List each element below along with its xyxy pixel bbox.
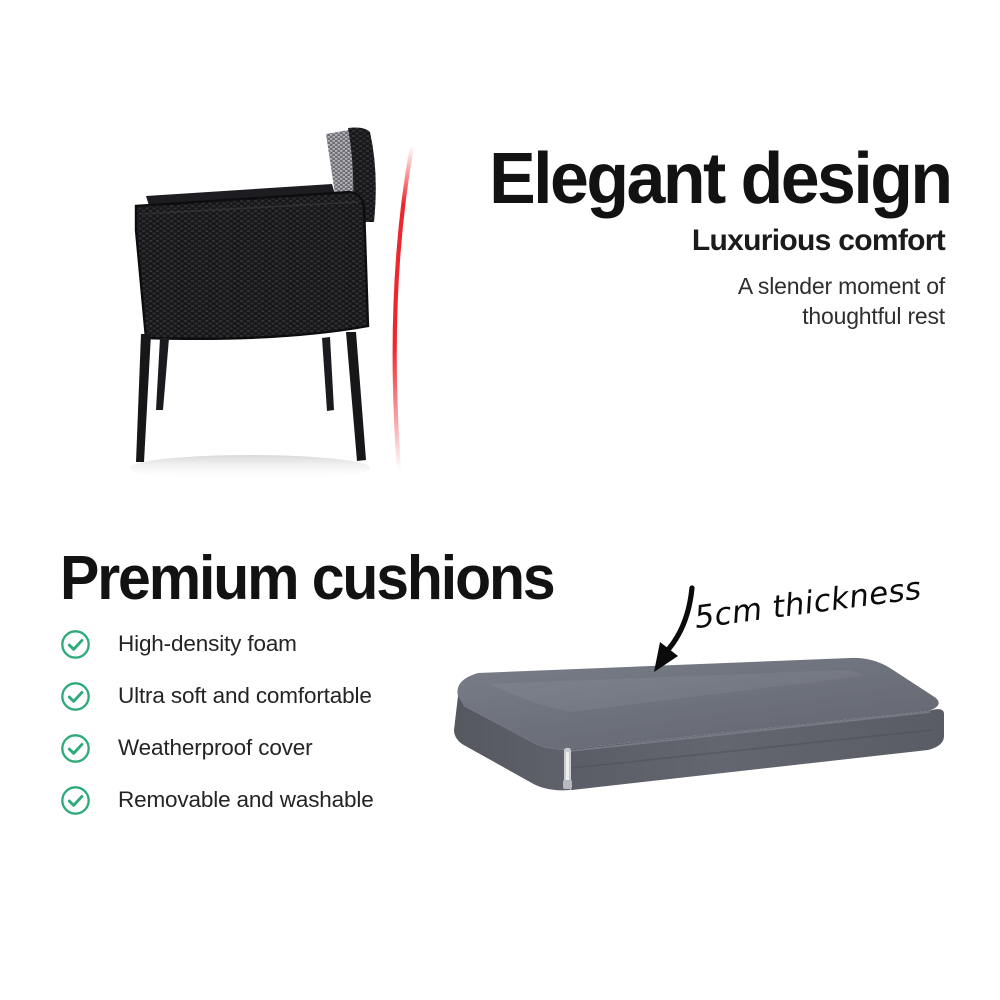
body-copy: A slender moment of thoughtful rest [475, 272, 945, 332]
list-item: High-density foam [60, 618, 480, 670]
chair-leg-front-left [136, 334, 151, 462]
body-copy-line-2: thoughtful rest [802, 303, 945, 329]
elegant-design-text-block: Elegant design Luxurious comfort A slend… [475, 146, 945, 332]
chair-leg-front-right [346, 332, 366, 461]
red-accent-curve [395, 146, 412, 470]
check-circle-icon [60, 785, 91, 816]
page-subtitle: Luxurious comfort [475, 224, 945, 258]
check-circle-icon [60, 681, 91, 712]
body-copy-line-1: A slender moment of [738, 273, 945, 299]
feature-list: High-density foam Ultra soft and comfort… [60, 618, 480, 826]
cushion-zipper [563, 748, 572, 789]
list-item: Ultra soft and comfortable [60, 670, 480, 722]
page-title: Elegant design [489, 146, 945, 212]
chair-body-panel [136, 192, 368, 339]
list-item-label: Ultra soft and comfortable [118, 683, 372, 709]
annotation-arrow-icon [654, 588, 692, 672]
product-feature-panel: Elegant design Luxurious comfort A slend… [0, 0, 1000, 1000]
chair-leg-back-left [156, 338, 169, 410]
list-item: Removable and washable [60, 774, 480, 826]
check-circle-icon [60, 733, 91, 764]
list-item: Weatherproof cover [60, 722, 480, 774]
check-circle-icon [60, 629, 91, 660]
armchair-product-image [100, 110, 460, 500]
chair-leg-back-right [322, 337, 334, 411]
list-item-label: Removable and washable [118, 787, 374, 813]
list-item-label: Weatherproof cover [118, 735, 312, 761]
list-item-label: High-density foam [118, 631, 297, 657]
chair-shadow [130, 455, 370, 481]
